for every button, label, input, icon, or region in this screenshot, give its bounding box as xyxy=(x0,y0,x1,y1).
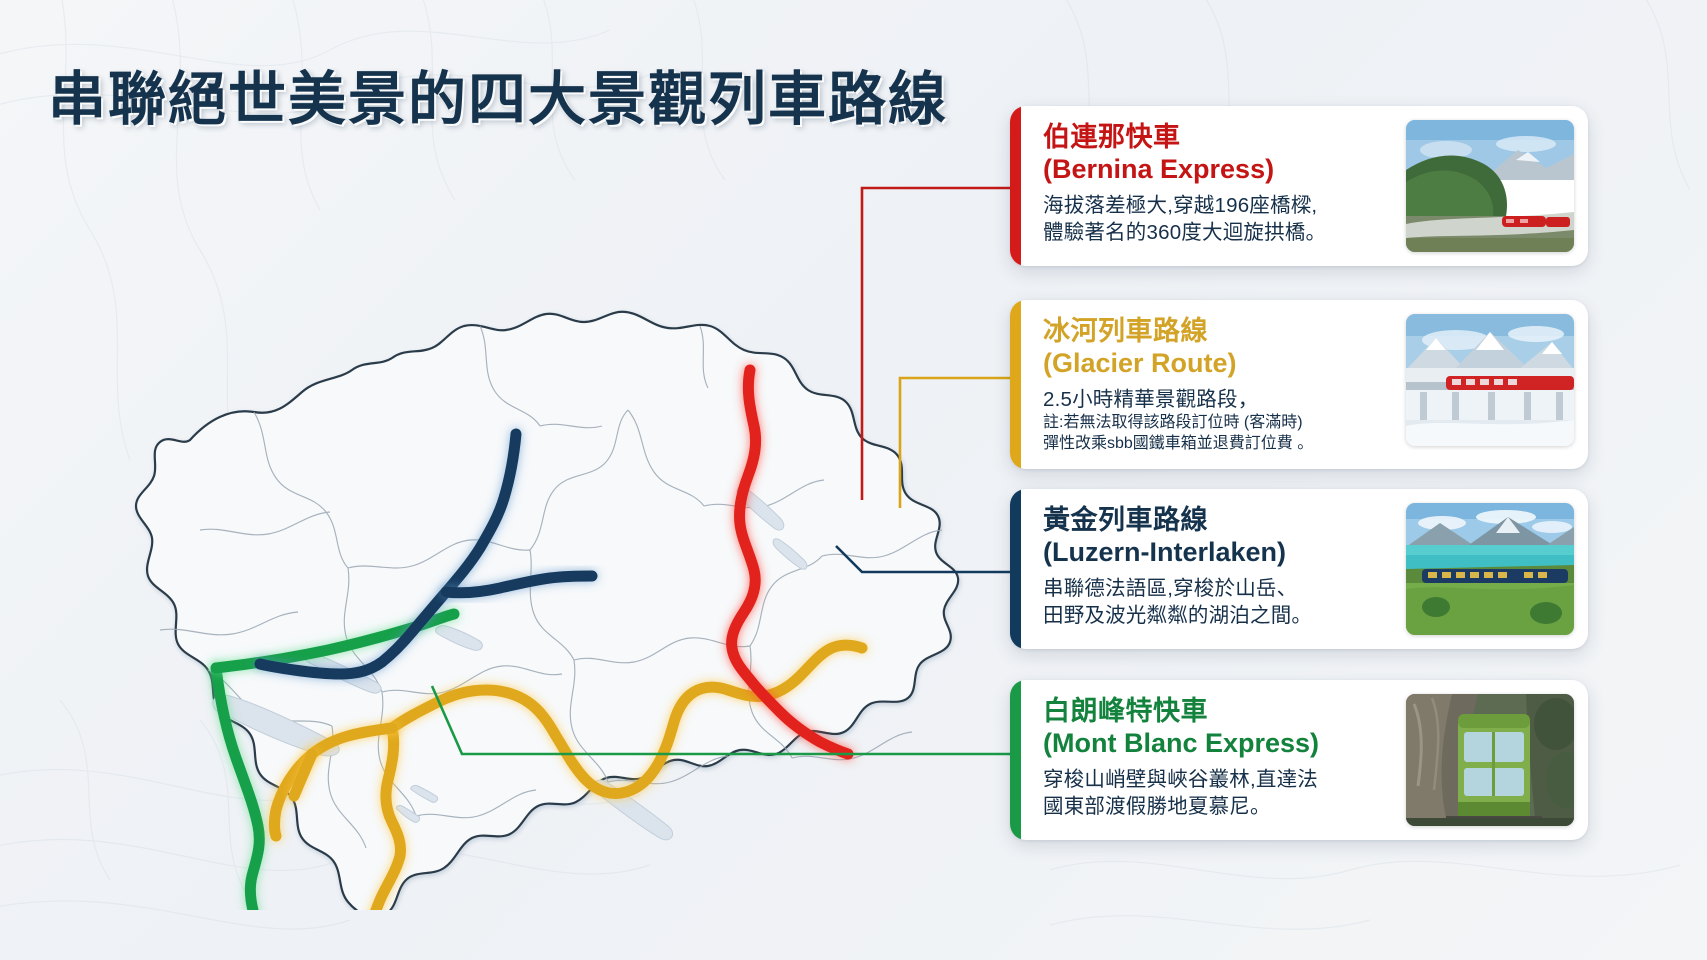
card-description-line2: 國東部渡假勝地夏慕尼。 xyxy=(1043,793,1394,821)
glacier-express-snow-photo xyxy=(1406,314,1574,446)
card-description-line1: 2.5小時精華景觀路段， xyxy=(1043,386,1394,414)
page-title: 串聯絕世美景的四大景觀列車路線 xyxy=(48,52,948,136)
card-description-line1: 串聯德法語區,穿梭於山岳、 xyxy=(1043,575,1394,603)
card-body: 伯連那快車 (Bernina Express) 海拔落差極大,穿越196座橋樑,… xyxy=(1021,106,1402,261)
card-bernina-express[interactable]: 伯連那快車 (Bernina Express) 海拔落差極大,穿越196座橋樑,… xyxy=(1010,106,1588,266)
card-title-en: (Mont Blanc Express) xyxy=(1043,728,1394,760)
card-body: 白朗峰特快車 (Mont Blanc Express) 穿梭山峭壁與峽谷叢林,直… xyxy=(1021,680,1402,835)
card-accent-bar xyxy=(1010,489,1021,649)
card-title-en: (Bernina Express) xyxy=(1043,154,1394,186)
card-title-en: (Luzern-Interlaken) xyxy=(1043,537,1394,569)
bernina-viaduct-photo xyxy=(1406,120,1574,252)
card-description-line2: 體驗著名的360度大迴旋拱橋。 xyxy=(1043,219,1394,247)
card-accent-bar xyxy=(1010,300,1021,469)
card-accent-bar xyxy=(1010,106,1021,266)
card-accent-bar xyxy=(1010,680,1021,840)
card-golden-route[interactable]: 黃金列車路線 (Luzern-Interlaken) 串聯德法語區,穿梭於山岳、… xyxy=(1010,489,1588,649)
card-title-cn: 冰河列車路線 xyxy=(1043,316,1394,348)
card-description-line1: 穿梭山峭壁與峽谷叢林,直達法 xyxy=(1043,766,1394,794)
card-note-line2: 彈性改乘sbb國鐵車箱並退費訂位費 。 xyxy=(1043,434,1394,455)
card-description-line1: 海拔落差極大,穿越196座橋樑, xyxy=(1043,192,1394,220)
card-body: 黃金列車路線 (Luzern-Interlaken) 串聯德法語區,穿梭於山岳、… xyxy=(1021,489,1402,644)
card-title-cn: 白朗峰特快車 xyxy=(1043,696,1394,728)
switzerland-map xyxy=(40,230,1030,910)
card-note-line1: 註:若無法取得該路段訂位時 (客滿時) xyxy=(1043,413,1394,434)
card-mont-blanc-express[interactable]: 白朗峰特快車 (Mont Blanc Express) 穿梭山峭壁與峽谷叢林,直… xyxy=(1010,680,1588,840)
card-glacier-route[interactable]: 冰河列車路線 (Glacier Route) 2.5小時精華景觀路段， 註:若無… xyxy=(1010,300,1588,469)
map-svg xyxy=(40,230,1030,910)
card-title-cn: 黃金列車路線 xyxy=(1043,505,1394,537)
card-title-en: (Glacier Route) xyxy=(1043,348,1394,380)
golden-pass-lake-photo xyxy=(1406,503,1574,635)
card-title-cn: 伯連那快車 xyxy=(1043,122,1394,154)
card-body: 冰河列車路線 (Glacier Route) 2.5小時精華景觀路段， 註:若無… xyxy=(1021,300,1402,469)
mont-blanc-gorge-photo xyxy=(1406,694,1574,826)
card-description-line2: 田野及波光粼粼的湖泊之間。 xyxy=(1043,602,1394,630)
